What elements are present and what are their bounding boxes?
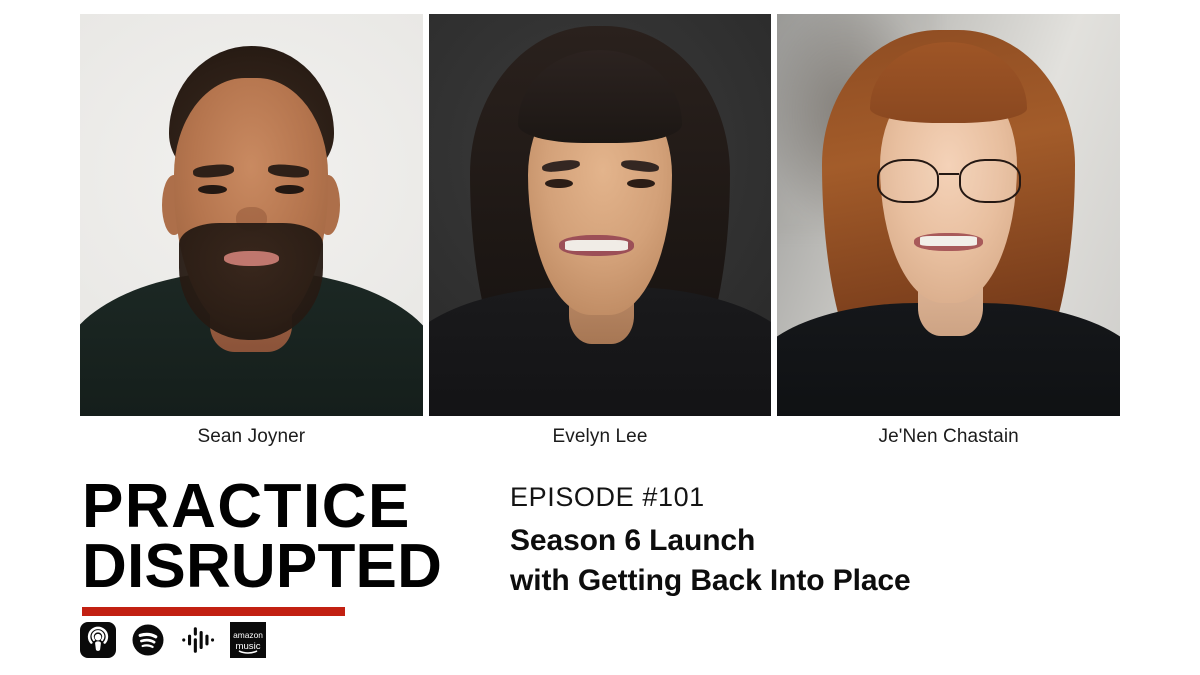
portrait-evelyn-lee: [429, 14, 772, 416]
guest-photo-2: [429, 14, 772, 416]
amazon-music-text-bottom: music: [235, 641, 260, 652]
podcast-logo: PRACTICE DISRUPTED: [82, 478, 442, 616]
guest-name-1: Sean Joyner: [80, 420, 423, 454]
logo-word-practice: PRACTICE: [82, 478, 442, 536]
episode-title: Season 6 Launch with Getting Back Into P…: [510, 521, 911, 600]
mouth-shape: [914, 233, 983, 251]
logo-accent-rule: [82, 607, 345, 616]
guest-photo-row: [80, 14, 1120, 416]
guest-name-row: Sean Joyner Evelyn Lee Je'Nen Chastain: [80, 420, 1120, 454]
lens-left-shape: [877, 159, 939, 203]
amazon-music-text-top: amazon: [233, 630, 263, 640]
lens-right-shape: [959, 159, 1021, 203]
guest-name-3: Je'Nen Chastain: [777, 420, 1120, 454]
portrait-sean-joyner: [80, 14, 423, 416]
episode-info: EPISODE #101 Season 6 Launch with Gettin…: [510, 482, 911, 600]
guest-photo-1: [80, 14, 423, 416]
episode-title-line-1: Season 6 Launch: [510, 521, 911, 561]
platform-icon-row: amazon music: [80, 622, 266, 658]
episode-graphic-canvas: Sean Joyner Evelyn Lee Je'Nen Chastain P…: [0, 0, 1200, 675]
amazon-music-icon[interactable]: amazon music: [230, 622, 266, 658]
spotify-icon[interactable]: [130, 622, 166, 658]
teeth-shape: [920, 236, 978, 246]
teeth-shape: [565, 240, 628, 251]
google-podcasts-icon[interactable]: [180, 622, 216, 658]
glasses-bridge-shape: [939, 173, 959, 176]
guest-photo-3: [777, 14, 1120, 416]
mouth-shape: [224, 251, 279, 265]
portrait-jenen-chastain: [777, 14, 1120, 416]
episode-number: EPISODE #101: [510, 482, 911, 513]
episode-title-line-2: with Getting Back Into Place: [510, 561, 911, 601]
glasses-shape: [877, 159, 1021, 203]
mouth-shape: [559, 235, 634, 256]
guest-name-2: Evelyn Lee: [429, 420, 772, 454]
logo-word-disrupted: DISRUPTED: [82, 538, 442, 596]
apple-podcasts-icon[interactable]: [80, 622, 116, 658]
